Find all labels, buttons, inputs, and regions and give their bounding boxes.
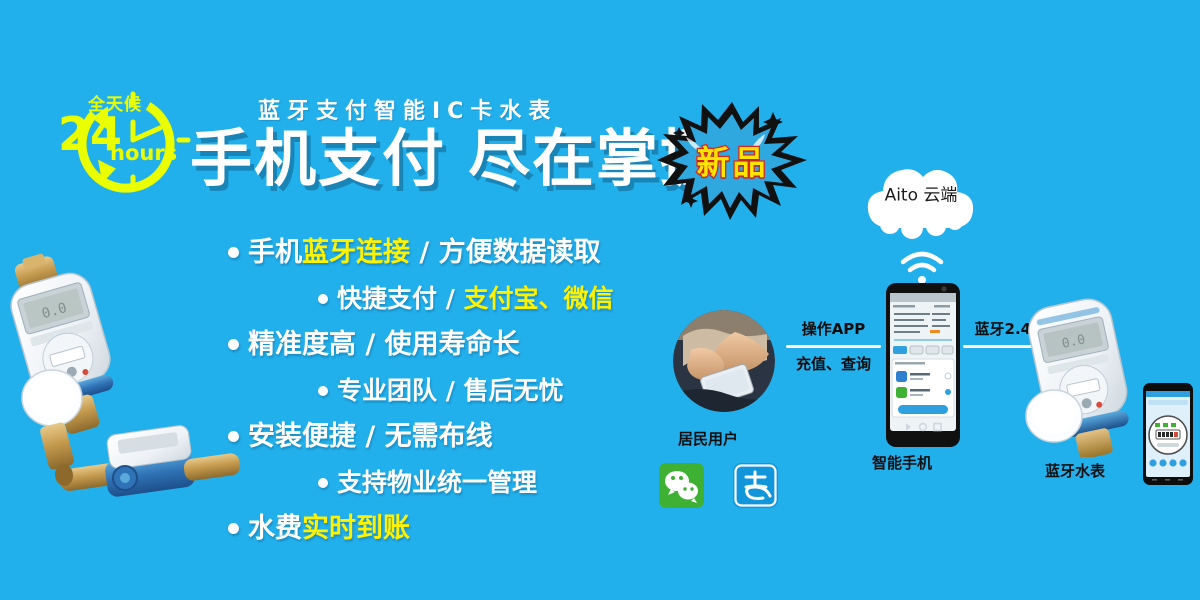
feature-highlight: 实时到账 — [302, 513, 410, 544]
resident-user-photo — [673, 310, 775, 412]
water-meter-product-image: 0.0 — [8, 228, 253, 523]
flow-connector-line-left — [786, 345, 881, 348]
banner-headline: 手机支付尽在掌握 — [190, 124, 724, 194]
feature-item-label: 支持物业统一管理 — [337, 462, 537, 503]
bluetooth-meter-caption: 蓝牙水表 — [1045, 460, 1105, 481]
new-product-label: 新品 — [655, 136, 810, 184]
feature-item-label: 快捷支付 / 支付宝、微信 — [337, 278, 614, 319]
feature-text: / 方便数据读取 — [410, 237, 601, 268]
feature-item-label: 手机蓝牙连接 / 方便数据读取 — [248, 232, 601, 273]
feature-text: 水费 — [248, 513, 302, 544]
smartphone-caption: 智能手机 — [872, 452, 932, 473]
feature-item-label: 精准度高 / 使用寿命长 — [248, 324, 520, 365]
feature-text: 快捷支付 / — [337, 284, 464, 313]
cloud-server-node: Aito 云端 — [856, 150, 986, 240]
feature-item-label: 安装便捷 / 无需布线 — [248, 416, 493, 457]
feature-item-label: 水费实时到账 — [248, 508, 410, 549]
feature-item: 快捷支付 / 支付宝、微信 — [228, 278, 698, 319]
feature-item: 支持物业统一管理 — [228, 462, 698, 503]
svg-text:hours: hours — [110, 141, 177, 165]
banner-subtitle: 蓝牙支付智能IC卡水表 — [258, 93, 557, 125]
feature-item: 安装便捷 / 无需布线 — [228, 416, 698, 457]
feature-text: 精准度高 / 使用寿命长 — [248, 329, 520, 360]
24-hours-badge: 全天候 24 hours — [48, 84, 198, 196]
resident-user-caption: 居民用户 — [678, 428, 738, 449]
feature-item-label: 专业团队 / 售后无忧 — [337, 370, 564, 411]
flow-app-bottom: 充值、查询 — [786, 353, 881, 375]
feature-item: 精准度高 / 使用寿命长 — [228, 324, 698, 365]
feature-item: 水费实时到账 — [228, 508, 698, 549]
alipay-icon[interactable] — [733, 463, 778, 508]
headline-part-1: 手机支付 — [190, 122, 446, 195]
new-product-badge: 新品 — [655, 98, 810, 223]
feature-text: 专业团队 / 售后无忧 — [337, 376, 564, 405]
cloud-label: Aito 云端 — [856, 181, 986, 206]
feature-highlight: 支付宝、微信 — [464, 284, 614, 313]
feature-text: 支持物业统一管理 — [337, 468, 537, 497]
feature-text: 安装便捷 / 无需布线 — [248, 421, 493, 452]
flow-app-top: 操作APP — [786, 318, 881, 340]
wechat-pay-icon[interactable] — [659, 463, 704, 508]
bluetooth-water-meter-image: 0.0 — [1010, 292, 1150, 457]
feature-item: 手机蓝牙连接 / 方便数据读取 — [228, 232, 698, 273]
flow-label-app: 操作APP 充值、查询 — [786, 318, 881, 375]
feature-item: 专业团队 / 售后无忧 — [228, 370, 698, 411]
wifi-icon — [898, 248, 946, 286]
bullet-dot-icon — [318, 478, 328, 488]
bullet-dot-icon — [318, 386, 328, 396]
feature-text: 手机 — [248, 237, 302, 268]
bullet-dot-icon — [228, 523, 239, 534]
feature-highlight: 蓝牙连接 — [302, 237, 410, 268]
bullet-dot-icon — [318, 294, 328, 304]
smartphone-device — [886, 283, 960, 447]
feature-list: 手机蓝牙连接 / 方便数据读取快捷支付 / 支付宝、微信精准度高 / 使用寿命长… — [228, 232, 698, 554]
meter-app-phone — [1143, 383, 1193, 485]
banner-stage: 全天候 24 hours 蓝牙支付智能IC卡水表 手机支付尽在掌握 新品 手机蓝… — [0, 0, 1200, 600]
